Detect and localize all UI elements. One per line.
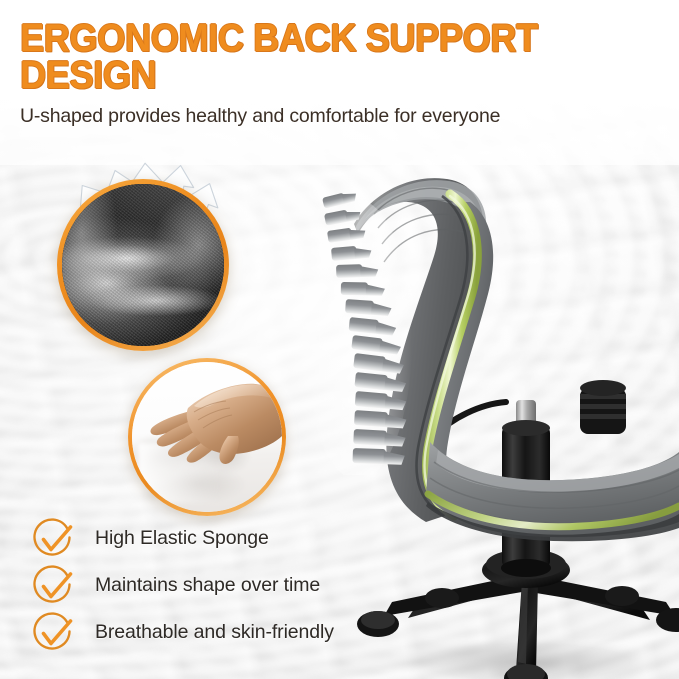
page-title: ERGONOMIC BACK SUPPORT DESIGN <box>20 20 578 94</box>
chair-seat <box>426 442 679 541</box>
product-feature-banner: ERGONOMIC BACK SUPPORT DESIGN U-shaped p… <box>0 0 679 679</box>
list-item: High Elastic Sponge <box>30 515 450 562</box>
leather-texture-circle <box>57 179 229 351</box>
list-item-label: High Elastic Sponge <box>95 527 269 550</box>
spine-vertebrae-graphic <box>300 190 420 475</box>
page-subtitle: U-shaped provides healthy and comfortabl… <box>20 104 640 128</box>
list-item: Breathable and skin-friendly <box>30 609 450 656</box>
feature-list: High Elastic Sponge Maintains shape over… <box>30 515 450 656</box>
chair-caster-rear-right <box>605 586 639 606</box>
list-item: Maintains shape over time <box>30 562 450 609</box>
check-circle-icon <box>30 516 76 562</box>
foam-demo-inner <box>132 362 282 512</box>
hand-on-foam-circle <box>128 358 286 516</box>
hand-illustration <box>132 362 282 512</box>
list-item-label: Maintains shape over time <box>95 574 320 597</box>
check-circle-icon <box>30 610 76 656</box>
list-item-label: Breathable and skin-friendly <box>95 621 334 644</box>
check-circle-icon <box>30 563 76 609</box>
chair-seat-mechanism-knob <box>580 380 626 434</box>
leather-specular-shine <box>62 184 224 346</box>
leather-texture-inner <box>62 184 224 346</box>
